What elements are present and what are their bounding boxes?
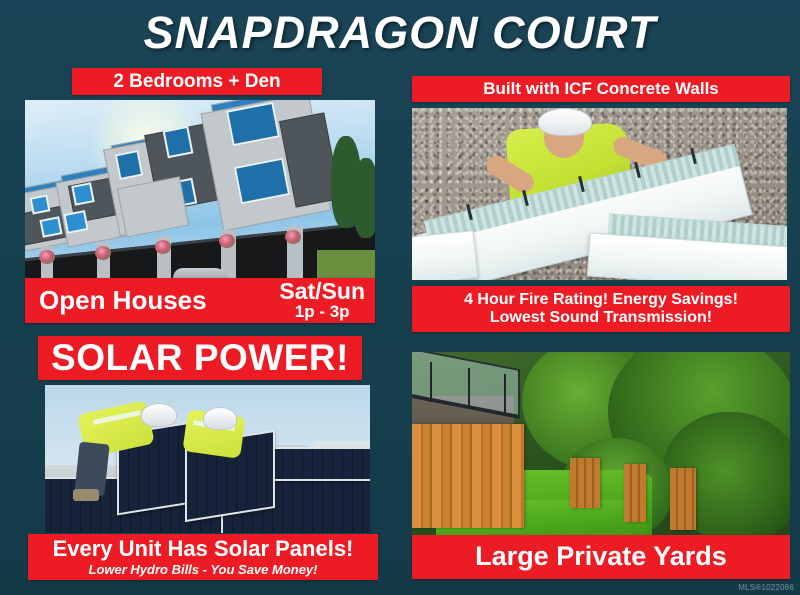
- window: [39, 216, 62, 237]
- open-house-hours: 1p - 3p: [295, 303, 350, 321]
- private-backyard-photo: [412, 352, 790, 537]
- banner-open-houses: Open Houses Sat/Sun 1p - 3p: [25, 278, 375, 323]
- page-title: SNAPDRAGON COURT: [0, 4, 800, 62]
- icf-panel-left-end: [412, 230, 478, 280]
- flower-basket: [155, 240, 171, 254]
- solar-headline: Every Unit Has Solar Panels!: [53, 538, 354, 560]
- banner-bedrooms: 2 Bedrooms + Den: [72, 68, 322, 95]
- solar-subline: Lower Hydro Bills - You Save Money!: [89, 563, 318, 576]
- tree: [353, 158, 375, 238]
- icf-block-installation-photo: [412, 108, 787, 280]
- icf-benefit-line-2: Lowest Sound Transmission!: [490, 309, 712, 327]
- cedar-fence-far: [570, 458, 600, 508]
- flower-basket: [95, 246, 111, 260]
- open-houses-label: Open Houses: [25, 287, 207, 314]
- banner-solar-power: SOLAR POWER!: [38, 336, 362, 380]
- hard-hat: [141, 403, 177, 427]
- banner-icf-benefits: 4 Hour Fire Rating! Energy Savings! Lowe…: [412, 286, 790, 332]
- balcony-rail-post: [468, 368, 470, 408]
- window: [163, 126, 194, 158]
- flower-basket: [285, 230, 301, 244]
- cedar-fence-far: [670, 468, 696, 530]
- banner-solar-panels: Every Unit Has Solar Panels! Lower Hydro…: [28, 534, 378, 580]
- window: [115, 150, 144, 180]
- real-estate-flyer: SNAPDRAGON COURT 2 Bedrooms + Den: [0, 0, 800, 595]
- window: [71, 182, 94, 205]
- cedar-fence-far: [624, 464, 646, 522]
- balcony-rail-post: [504, 374, 506, 414]
- flower-basket: [39, 250, 55, 264]
- hard-hat: [538, 108, 592, 136]
- balcony-rail-post: [430, 362, 432, 402]
- icf-benefit-line-1: 4 Hour Fire Rating! Energy Savings!: [464, 291, 738, 309]
- worker-boot: [73, 489, 99, 501]
- banner-private-yards: Large Private Yards: [412, 535, 790, 579]
- mls-watermark: MLS®1022086: [738, 583, 794, 592]
- townhouse-exterior-photo: [25, 100, 375, 295]
- flower-basket: [219, 234, 235, 248]
- window: [30, 194, 51, 214]
- open-house-days: Sat/Sun: [279, 280, 365, 303]
- solar-panel-installation-photo: [45, 385, 370, 533]
- hard-hat: [203, 407, 237, 430]
- window: [63, 210, 88, 234]
- cedar-fence: [412, 424, 524, 528]
- banner-icf: Built with ICF Concrete Walls: [412, 76, 790, 102]
